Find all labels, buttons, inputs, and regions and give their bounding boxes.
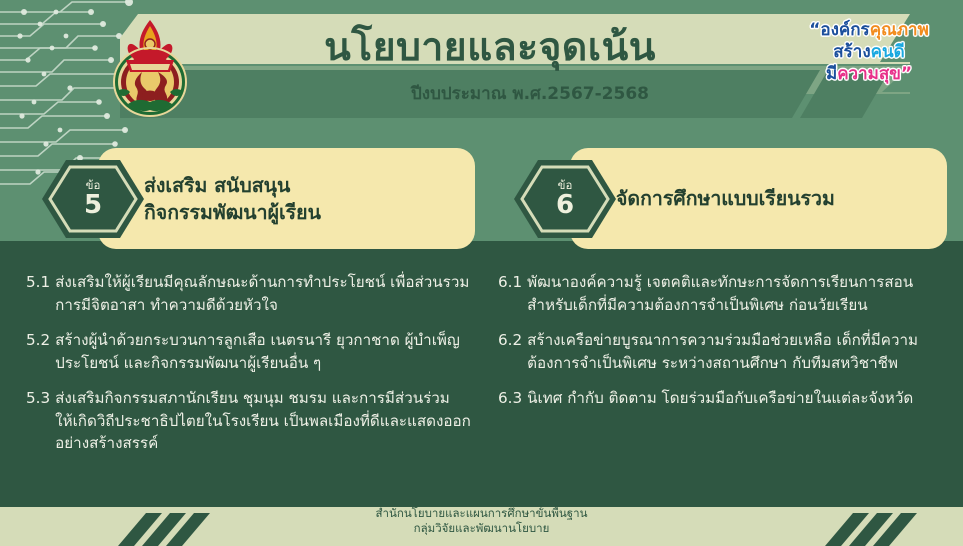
- page-title: นโยบายและจุดเน้น: [210, 22, 770, 74]
- footer-line-2: กลุ่มวิจัยและพัฒนานโยบาย: [0, 521, 963, 536]
- item-number: 6.2: [498, 329, 527, 374]
- slogan-line-2: สร้างคนดี: [789, 41, 949, 63]
- item-text: สร้างผู้นำด้วยกระบวนการลูกเสือ เนตรนารี …: [55, 329, 471, 374]
- item-number: 6.3: [498, 387, 527, 410]
- card-title-5-line1: ส่งเสริม สนับสนุน: [144, 172, 321, 199]
- hexagon-badge-5: [40, 158, 146, 240]
- list-item: 5.3 ส่งเสริมกิจกรรมสภานักเรียน ชุมนุม ชม…: [26, 387, 471, 455]
- card-title-5-line2: กิจกรรมพัฒนาผู้เรียน: [144, 199, 321, 226]
- slogan-line-3-a: มี: [826, 64, 837, 84]
- slogan-line-1-a: “องค์กร: [809, 20, 869, 40]
- policy-list-5: 5.1 ส่งเสริมให้ผู้เรียนมีคุณลักษณะด้านกา…: [20, 271, 475, 455]
- slogan-line-3-b: ความสุข”: [837, 64, 912, 84]
- policy-column-5: ข้อ 5 ส่งเสริม สนับสนุน กิจกรรมพัฒนาผู้เ…: [20, 148, 475, 468]
- item-text: ส่งเสริมให้ผู้เรียนมีคุณลักษณะด้านการทำป…: [55, 271, 471, 316]
- slogan-line-2-a: สร้าง: [833, 42, 870, 62]
- list-item: 5.2 สร้างผู้นำด้วยกระบวนการลูกเสือ เนตรน…: [26, 329, 471, 374]
- slogan-line-2-b: คนดี: [871, 42, 905, 62]
- footer-text: สำนักนโยบายและแผนการศึกษาขั้นพื้นฐาน กลุ…: [0, 506, 963, 535]
- item-text: ส่งเสริมกิจกรรมสภานักเรียน ชุมนุม ชมรม แ…: [55, 387, 471, 455]
- obec-garuda-emblem: [98, 16, 202, 119]
- page-subtitle: ปีงบประมาณ พ.ศ.2567-2568: [250, 80, 810, 107]
- list-item: 6.3 นิเทศ กำกับ ติดตาม โดยร่วมมือกับเครื…: [498, 387, 943, 410]
- card-header-5: ข้อ 5 ส่งเสริม สนับสนุน กิจกรรมพัฒนาผู้เ…: [98, 148, 475, 249]
- item-text: สร้างเครือข่ายบูรณาการความร่วมมือช่วยเหล…: [527, 329, 943, 374]
- item-number: 5.1: [26, 271, 55, 316]
- hexagon-badge-6: [512, 158, 618, 240]
- item-text: พัฒนาองค์ความรู้ เจตคติและทักษะการจัดการ…: [527, 271, 943, 316]
- card-title-6-line1: จัดการศึกษาแบบเรียนรวม: [616, 185, 835, 212]
- footer-line-1: สำนักนโยบายและแผนการศึกษาขั้นพื้นฐาน: [0, 506, 963, 521]
- item-number: 5.2: [26, 329, 55, 374]
- card-header-6: ข้อ 6 จัดการศึกษาแบบเรียนรวม: [570, 148, 947, 249]
- slogan-line-1: “องค์กรคุณภาพ: [789, 19, 949, 41]
- list-item: 6.2 สร้างเครือข่ายบูรณาการความร่วมมือช่ว…: [498, 329, 943, 374]
- item-number: 5.3: [26, 387, 55, 455]
- slogan-line-1-b: คุณภาพ: [870, 20, 929, 40]
- item-number: 6.1: [498, 271, 527, 316]
- list-item: 5.1 ส่งเสริมให้ผู้เรียนมีคุณลักษณะด้านกา…: [26, 271, 471, 316]
- list-item: 6.1 พัฒนาองค์ความรู้ เจตคติและทักษะการจั…: [498, 271, 943, 316]
- slide-root: นโยบายและจุดเน้น ปีงบประมาณ พ.ศ.2567-256…: [0, 0, 963, 546]
- policy-column-6: ข้อ 6 จัดการศึกษาแบบเรียนรวม 6.1 พัฒนาอง…: [492, 148, 947, 423]
- policy-list-6: 6.1 พัฒนาองค์ความรู้ เจตคติและทักษะการจั…: [492, 271, 947, 410]
- slogan-line-3: มีความสุข”: [789, 63, 949, 85]
- organization-slogan: “องค์กรคุณภาพ สร้างคนดี มีความสุข”: [789, 19, 949, 85]
- item-text: นิเทศ กำกับ ติดตาม โดยร่วมมือกับเครือข่า…: [527, 387, 943, 410]
